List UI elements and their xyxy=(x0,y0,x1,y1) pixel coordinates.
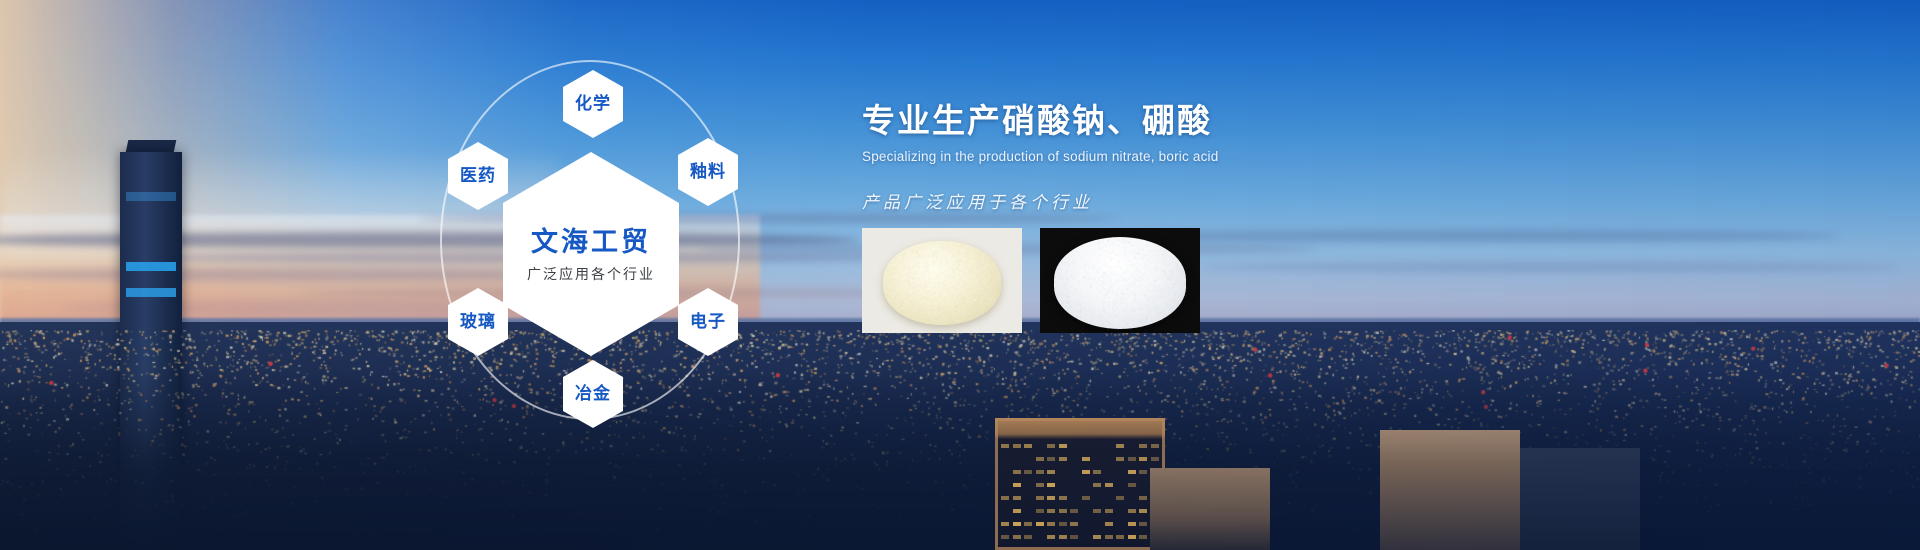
company-name: 文海工贸 xyxy=(531,226,651,258)
hex-node-label: 冶金 xyxy=(575,385,611,404)
headline-chinese: 专业生产硝酸钠、硼酸 xyxy=(862,100,1562,141)
hex-node-label: 玻璃 xyxy=(460,313,496,332)
hex-node-label: 电子 xyxy=(690,313,726,332)
headline-block: 专业生产硝酸钠、硼酸 Specializing in the productio… xyxy=(862,100,1562,213)
promo-banner: 化学 釉料 医药 玻璃 电子 冶金 文海工贸 广泛应用各个行业 专业生产硝酸钠、… xyxy=(0,0,1920,550)
company-tagline: 广泛应用各个行业 xyxy=(527,267,655,282)
product-photo-strip xyxy=(862,228,1200,333)
industry-hexagon-diagram: 化学 釉料 医药 玻璃 电子 冶金 文海工贸 广泛应用各个行业 xyxy=(430,30,760,450)
hex-node-label: 化学 xyxy=(575,95,611,114)
headline-english: Specializing in the production of sodium… xyxy=(862,149,1562,164)
headline-tagline: 产品广泛应用于各个行业 xyxy=(862,188,1562,213)
hex-node-label: 釉料 xyxy=(690,163,726,182)
product-photo-boric-acid xyxy=(1040,228,1200,333)
powder-grain-texture xyxy=(862,228,1022,333)
product-photo-sodium-nitrate xyxy=(862,228,1022,333)
hex-node-label: 医药 xyxy=(460,167,496,186)
powder-grain-texture xyxy=(1040,228,1200,333)
